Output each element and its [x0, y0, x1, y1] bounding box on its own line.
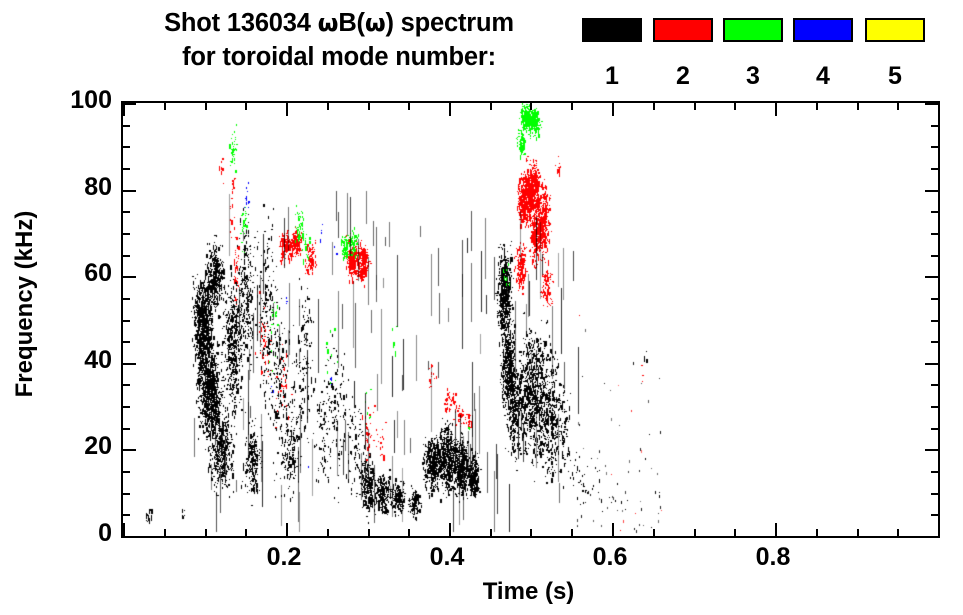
x-tick-label-0.8: 0.8	[733, 545, 813, 570]
x-tick-label-0.6: 0.6	[570, 545, 650, 570]
x-tick-label-0.4: 0.4	[407, 545, 487, 570]
figure-root: Shot 136034 ωB(ω) spectrum for toroidal …	[0, 0, 963, 615]
x-axis-label: Time (s)	[121, 578, 936, 606]
x-tick-label-0.2: 0.2	[244, 545, 324, 570]
x-axis-tick-labels: 0.20.40.60.8	[0, 0, 963, 615]
y-axis-label: Frequency (kHz)	[11, 164, 39, 444]
